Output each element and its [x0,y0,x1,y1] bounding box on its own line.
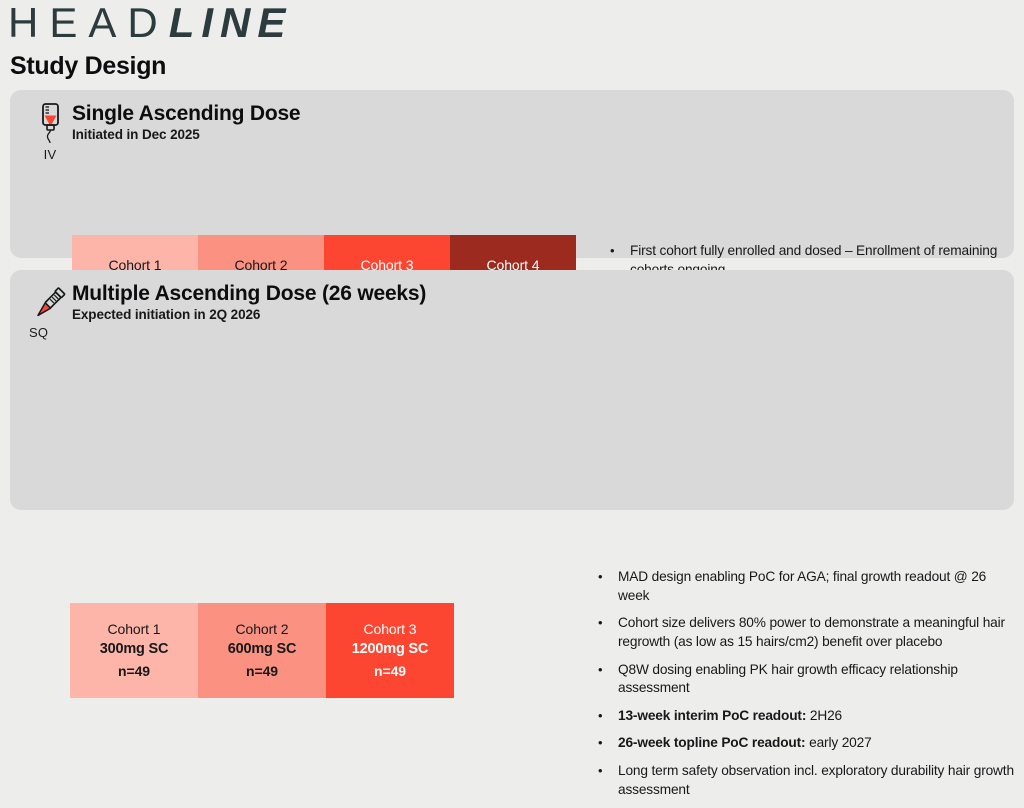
bullet-dot-icon: • [598,614,618,651]
cohort-box[interactable]: Cohort 3 1200mg SC n=49 [326,603,454,698]
cohort-box[interactable]: Cohort 1 300mg SC n=49 [70,603,198,698]
brand-logo: HEAD LINE [8,2,292,44]
bullet-text: Q8W dosing enabling PK hair growth effic… [618,661,1018,698]
cohort-size: n=49 [118,660,150,682]
section-panel-sad: IV Single Ascending Dose Initiated in De… [10,90,1014,258]
bullet-text: 13-week interim PoC readout: 2H26 [618,707,1018,726]
section-subtitle-mad: Expected initiation in 2Q 2026 [72,307,426,322]
bullet-dot-icon: • [598,568,618,605]
bullet-text: 26-week topline PoC readout: early 2027 [618,734,1018,753]
cohort-dose: 1200mg SC [352,639,428,660]
bullet-item: • 26-week topline PoC readout: early 202… [598,734,1018,753]
bullet-item: • Cohort size delivers 80% power to demo… [598,614,1018,651]
brand-logo-part2: LINE [169,2,293,44]
bullet-item: • 13-week interim PoC readout: 2H26 [598,707,1018,726]
bullet-dot-icon: • [598,707,618,726]
section-title-sad: Single Ascending Dose [72,102,300,126]
cohort-size: n=49 [246,660,278,682]
bullet-lead: 13-week interim PoC readout: [618,708,806,723]
bullet-item: • Q8W dosing enabling PK hair growth eff… [598,661,1018,698]
cohort-size: n=49 [374,660,406,682]
cohort-name: Cohort 2 [236,619,289,639]
section-panel-mad: SQ Multiple Ascending Dose (26 weeks) Ex… [10,270,1014,510]
cohort-dose: 300mg SC [100,639,169,660]
bullet-tail: early 2027 [805,735,871,750]
bullet-list-mad: • MAD design enabling PoC for AGA; final… [598,568,1018,808]
bullet-dot-icon: • [598,734,618,753]
bullet-lead: 26-week topline PoC readout: [618,735,805,750]
section-title-mad: Multiple Ascending Dose (26 weeks) [72,282,426,306]
brand-logo-part1: HEAD [8,2,169,44]
bullet-dot-icon: • [598,661,618,698]
bullet-text: MAD design enabling PoC for AGA; final g… [618,568,1018,605]
cohort-box[interactable]: Cohort 2 600mg SC n=49 [198,603,326,698]
cohort-strip-mad: Cohort 1 300mg SC n=49 Cohort 2 600mg SC… [70,603,454,698]
route-indicator-iv: IV [28,102,72,162]
cohort-name: Cohort 3 [364,619,417,639]
bullet-tail: 2H26 [806,708,842,723]
section-heading-mad: Multiple Ascending Dose (26 weeks) Expec… [72,282,426,322]
page-title: Study Design [10,52,166,81]
bullet-dot-icon: • [598,762,618,799]
cohort-dose: 600mg SC [228,639,297,660]
cohort-name: Cohort 1 [108,619,161,639]
bullet-item: • MAD design enabling PoC for AGA; final… [598,568,1018,605]
syringe-icon [32,282,68,324]
route-indicator-sq: SQ [28,282,72,340]
bullet-text: Cohort size delivers 80% power to demons… [618,614,1018,651]
section-heading-sad: Single Ascending Dose Initiated in Dec 2… [72,102,300,142]
bullet-item: • Long term safety observation incl. exp… [598,762,1018,799]
iv-bag-icon [35,102,65,146]
route-label-sq: SQ [29,325,48,340]
bullet-text: Long term safety observation incl. explo… [618,762,1018,799]
section-subtitle-sad: Initiated in Dec 2025 [72,127,300,142]
route-label-iv: IV [44,147,57,162]
